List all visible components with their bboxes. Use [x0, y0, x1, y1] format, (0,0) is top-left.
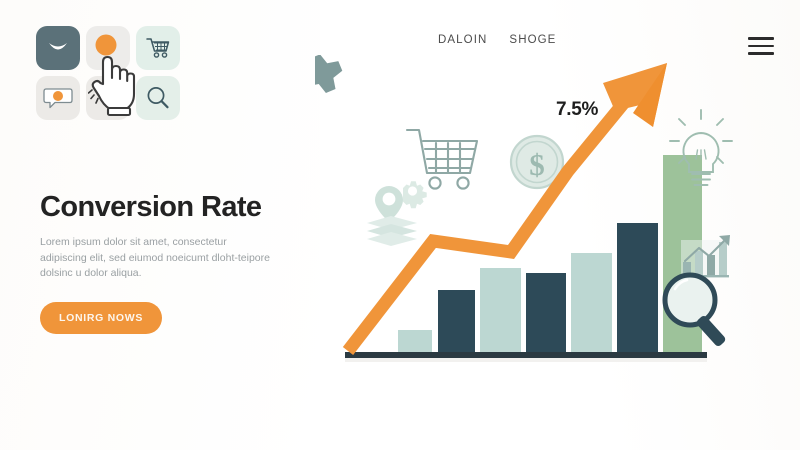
- magnifier-icon: [144, 84, 172, 112]
- nav-item-daloin[interactable]: DALOIN: [438, 34, 487, 46]
- svg-text:$: $: [529, 147, 545, 182]
- bar-6: [617, 223, 658, 353]
- hamburger-menu-icon[interactable]: [748, 37, 774, 55]
- page-title: Conversion Rate: [40, 192, 310, 223]
- bar-chart-svg: $: [315, 55, 785, 375]
- gear-icon: [315, 55, 357, 284]
- blank-tile-icon[interactable]: [86, 76, 130, 120]
- hamburger-line-3: [748, 52, 774, 55]
- percentage-annotation: 7.5%: [556, 99, 598, 121]
- hero-section: Conversion Rate Lorem ipsum dolor sit am…: [40, 192, 310, 334]
- hamburger-line-1: [748, 37, 774, 40]
- shopping-cart-illustration: [407, 130, 477, 189]
- hamburger-line-2: [748, 45, 774, 48]
- nav-item-shoge[interactable]: SHOGE: [509, 34, 556, 46]
- bar-2: [438, 290, 475, 353]
- chart-baseline-shadow: [345, 358, 707, 362]
- chart-baseline: [345, 352, 707, 358]
- hero-paragraph: Lorem ipsum dolor sit amet, consectetur …: [40, 235, 272, 281]
- orange-dot-icon: [93, 33, 123, 63]
- bar-1: [398, 330, 432, 353]
- bar-5: [571, 253, 612, 353]
- growth-chart-icon: [681, 235, 730, 277]
- bubble-dot-icon: [42, 85, 74, 111]
- search-magnifier-icon[interactable]: [136, 76, 180, 120]
- cta-button[interactable]: LONIRG NOWS: [40, 302, 162, 334]
- click-target-icon[interactable]: [86, 26, 130, 70]
- bar-4: [526, 273, 566, 353]
- cart-icon: [145, 36, 171, 60]
- app-icon-grid: [36, 26, 180, 120]
- chat-bubble-icon[interactable]: [36, 76, 80, 120]
- shopping-cart-icon[interactable]: [136, 26, 180, 70]
- bar-3: [480, 268, 521, 353]
- chart-illustration: 7.5% $: [315, 55, 785, 375]
- nav-links: DALOIN SHOGE: [438, 34, 556, 46]
- chevron-badge-icon[interactable]: [36, 26, 80, 70]
- chevron-down-icon: [45, 37, 71, 59]
- location-pin-books-icon: [367, 181, 427, 246]
